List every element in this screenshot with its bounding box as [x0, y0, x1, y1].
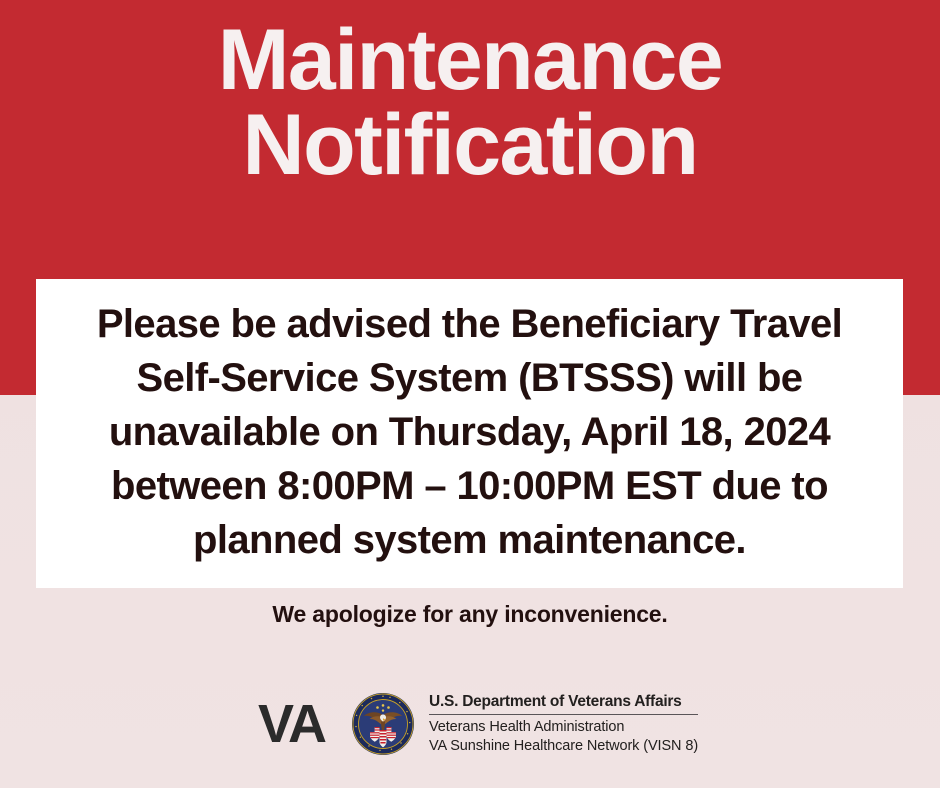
- apology-text: We apologize for any inconvenience.: [0, 601, 940, 628]
- page-title-line-1: Maintenance: [0, 18, 940, 103]
- notice-line-5: planned system maintenance.: [50, 513, 890, 567]
- va-logo-lockup: VA: [258, 686, 698, 762]
- va-wordmark: VA: [258, 697, 338, 751]
- notice-line-2: Self-Service System (BTSSS) will be: [50, 351, 890, 405]
- notice-line-4: between 8:00PM – 10:00PM EST due to: [50, 459, 890, 513]
- va-admin-line: Veterans Health Administration: [429, 718, 698, 737]
- notice-message: Please be advised the Beneficiary Travel…: [50, 297, 890, 571]
- maintenance-notification-poster: Maintenance Notification Please be advis…: [0, 0, 940, 788]
- va-department-title: U.S. Department of Veterans Affairs: [429, 693, 698, 711]
- va-logo-text: U.S. Department of Veterans Affairs Vete…: [429, 692, 698, 756]
- page-title: Maintenance Notification: [0, 18, 940, 188]
- notice-line-1: Please be advised the Beneficiary Travel: [50, 297, 890, 351]
- notice-card: Please be advised the Beneficiary Travel…: [36, 279, 903, 588]
- va-seal-icon: [351, 692, 415, 756]
- page-title-line-2: Notification: [0, 103, 940, 188]
- va-logo-rule: [429, 714, 698, 715]
- va-network-line: VA Sunshine Healthcare Network (VISN 8): [429, 737, 698, 756]
- notice-line-3: unavailable on Thursday, April 18, 2024: [50, 405, 890, 459]
